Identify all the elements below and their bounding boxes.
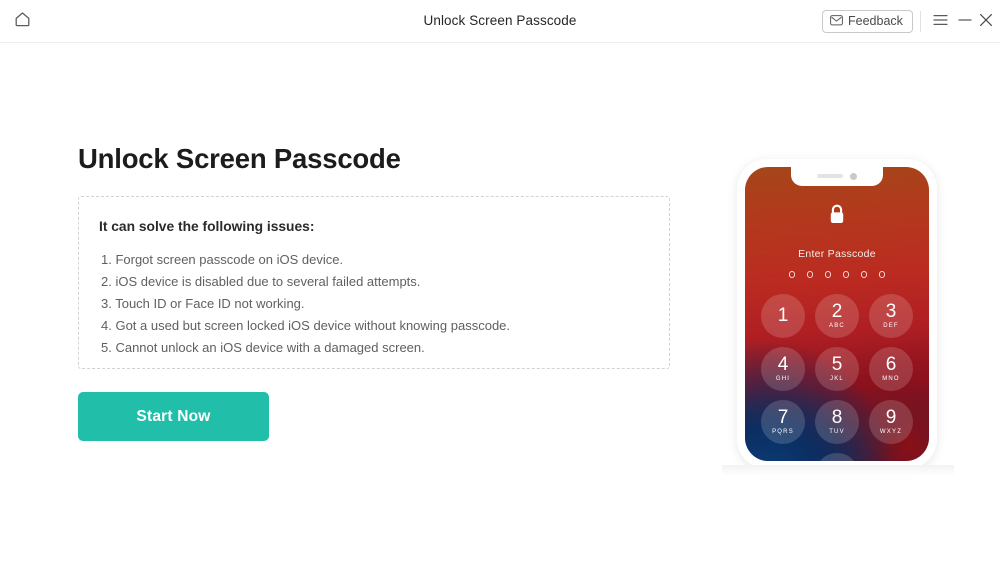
list-item: 3. Touch ID or Face ID not working.: [101, 293, 510, 315]
camera-icon: [850, 173, 857, 180]
key-number: 8: [832, 408, 843, 427]
key-number: 5: [832, 355, 843, 374]
phone-frame: Enter Passcode 1 2 ABC: [737, 159, 937, 469]
start-now-button[interactable]: Start Now: [78, 392, 269, 441]
keypad-key-7[interactable]: 7 PQRS: [761, 400, 805, 444]
list-item: 5. Cannot unlock an iOS device with a da…: [101, 337, 510, 359]
list-item: 1. Forgot screen passcode on iOS device.: [101, 249, 510, 271]
issues-panel-title: It can solve the following issues:: [99, 219, 314, 234]
passcode-keypad: 1 2 ABC 3 DEF 4 GHI: [761, 294, 913, 461]
keypad-key-4[interactable]: 4 GHI: [761, 347, 805, 391]
passcode-dots: [745, 271, 929, 278]
enter-passcode-label: Enter Passcode: [745, 248, 929, 260]
keypad-key-1[interactable]: 1: [761, 294, 805, 338]
key-letters: MNO: [882, 375, 900, 384]
keypad-key-8[interactable]: 8 TUV: [815, 400, 859, 444]
passcode-dot: [879, 271, 886, 278]
key-number: 9: [886, 408, 897, 427]
main-content: Unlock Screen Passcode It can solve the …: [0, 43, 1000, 580]
key-number: 6: [886, 355, 897, 374]
keypad-key-6[interactable]: 6 MNO: [869, 347, 913, 391]
list-item: 4. Got a used but screen locked iOS devi…: [101, 315, 510, 337]
lock-icon: [829, 204, 846, 230]
feedback-label: Feedback: [848, 15, 903, 28]
keypad-key-9[interactable]: 9 WXYZ: [869, 400, 913, 444]
key-letters: DEF: [883, 322, 899, 331]
passcode-dot: [861, 271, 868, 278]
keypad-key-5[interactable]: 5 JKL: [815, 347, 859, 391]
hamburger-menu-icon: [933, 13, 948, 31]
titlebar-divider: [920, 11, 921, 32]
close-icon: [979, 13, 993, 32]
key-letters: TUV: [829, 428, 845, 437]
page-title: Unlock Screen Passcode: [78, 143, 401, 175]
key-number: 1: [778, 306, 789, 325]
key-number: 4: [778, 355, 789, 374]
phone-screen: Enter Passcode 1 2 ABC: [745, 167, 929, 461]
keypad-key-0[interactable]: 0: [815, 453, 859, 461]
key-letters: ABC: [829, 322, 845, 331]
phone-illustration: Enter Passcode 1 2 ABC: [722, 118, 954, 483]
issues-panel: It can solve the following issues: 1. Fo…: [78, 196, 670, 369]
envelope-icon: [830, 13, 843, 31]
key-letters: JKL: [830, 375, 844, 384]
phone-notch: [791, 167, 883, 186]
minimize-button[interactable]: [954, 11, 976, 33]
passcode-dot: [843, 271, 850, 278]
passcode-dot: [825, 271, 832, 278]
key-letters: GHI: [776, 375, 790, 384]
key-number: 7: [778, 408, 789, 427]
keypad-key-2[interactable]: 2 ABC: [815, 294, 859, 338]
issues-list: 1. Forgot screen passcode on iOS device.…: [101, 249, 510, 359]
title-bar: Unlock Screen Passcode Feedback: [0, 0, 1000, 43]
speaker-icon: [817, 174, 843, 178]
menu-button[interactable]: [929, 11, 951, 33]
list-item: 2. iOS device is disabled due to several…: [101, 271, 510, 293]
keypad-key-3[interactable]: 3 DEF: [869, 294, 913, 338]
key-letters: WXYZ: [880, 428, 902, 437]
key-number: 3: [886, 302, 897, 321]
key-number: 2: [832, 302, 843, 321]
passcode-dot: [789, 271, 796, 278]
key-letters: PQRS: [772, 428, 794, 437]
phone-shadow: [722, 465, 954, 477]
close-button[interactable]: [975, 11, 997, 33]
feedback-button[interactable]: Feedback: [822, 10, 913, 33]
passcode-dot: [807, 271, 814, 278]
minimize-icon: [958, 13, 972, 31]
